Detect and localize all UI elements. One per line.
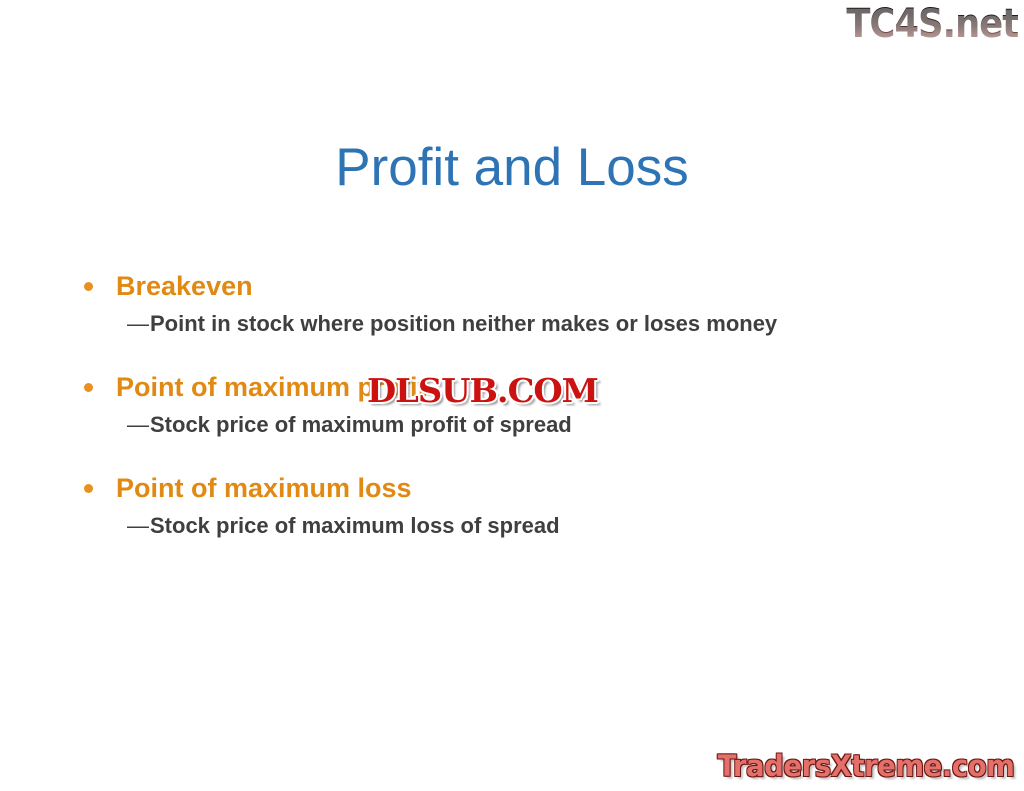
bullet-heading-label: Point of maximum loss	[116, 473, 412, 503]
bullet-heading-label: Breakeven	[116, 271, 253, 301]
page-title: Profit and Loss	[0, 137, 1024, 199]
tradersxtreme-logo: TradersXtreme.com	[717, 749, 1014, 783]
bullet-dot-icon	[84, 383, 93, 392]
bullet-dot-icon	[84, 282, 93, 291]
sub-bullet-label: Stock price of maximum profit of spread	[150, 412, 572, 437]
dlsub-watermark: DLSUB.COM	[367, 372, 598, 410]
bullet-group-max-loss: Point of maximum loss — Stock price of m…	[72, 470, 972, 541]
dash-marker-icon: —	[127, 309, 149, 339]
bullet-dot-icon	[84, 484, 93, 493]
bullet-group-breakeven: Breakeven — Point in stock where positio…	[72, 268, 972, 339]
sub-bullet-label: Stock price of maximum loss of spread	[150, 513, 560, 538]
sub-bullet-label: Point in stock where position neither ma…	[150, 311, 777, 336]
sub-bullet: — Stock price of maximum profit of sprea…	[72, 410, 972, 440]
dash-marker-icon: —	[127, 410, 149, 440]
sub-bullet: — Point in stock where position neither …	[72, 309, 972, 339]
dash-marker-icon: —	[127, 511, 149, 541]
presentation-slide: TC4S.net Profit and Loss Breakeven — Poi…	[0, 0, 1024, 791]
bullet-heading: Breakeven	[72, 268, 972, 304]
sub-bullet: — Stock price of maximum loss of spread	[72, 511, 972, 541]
tc4s-logo: TC4S.net	[846, 2, 1018, 46]
bullet-heading: Point of maximum loss	[72, 470, 972, 506]
